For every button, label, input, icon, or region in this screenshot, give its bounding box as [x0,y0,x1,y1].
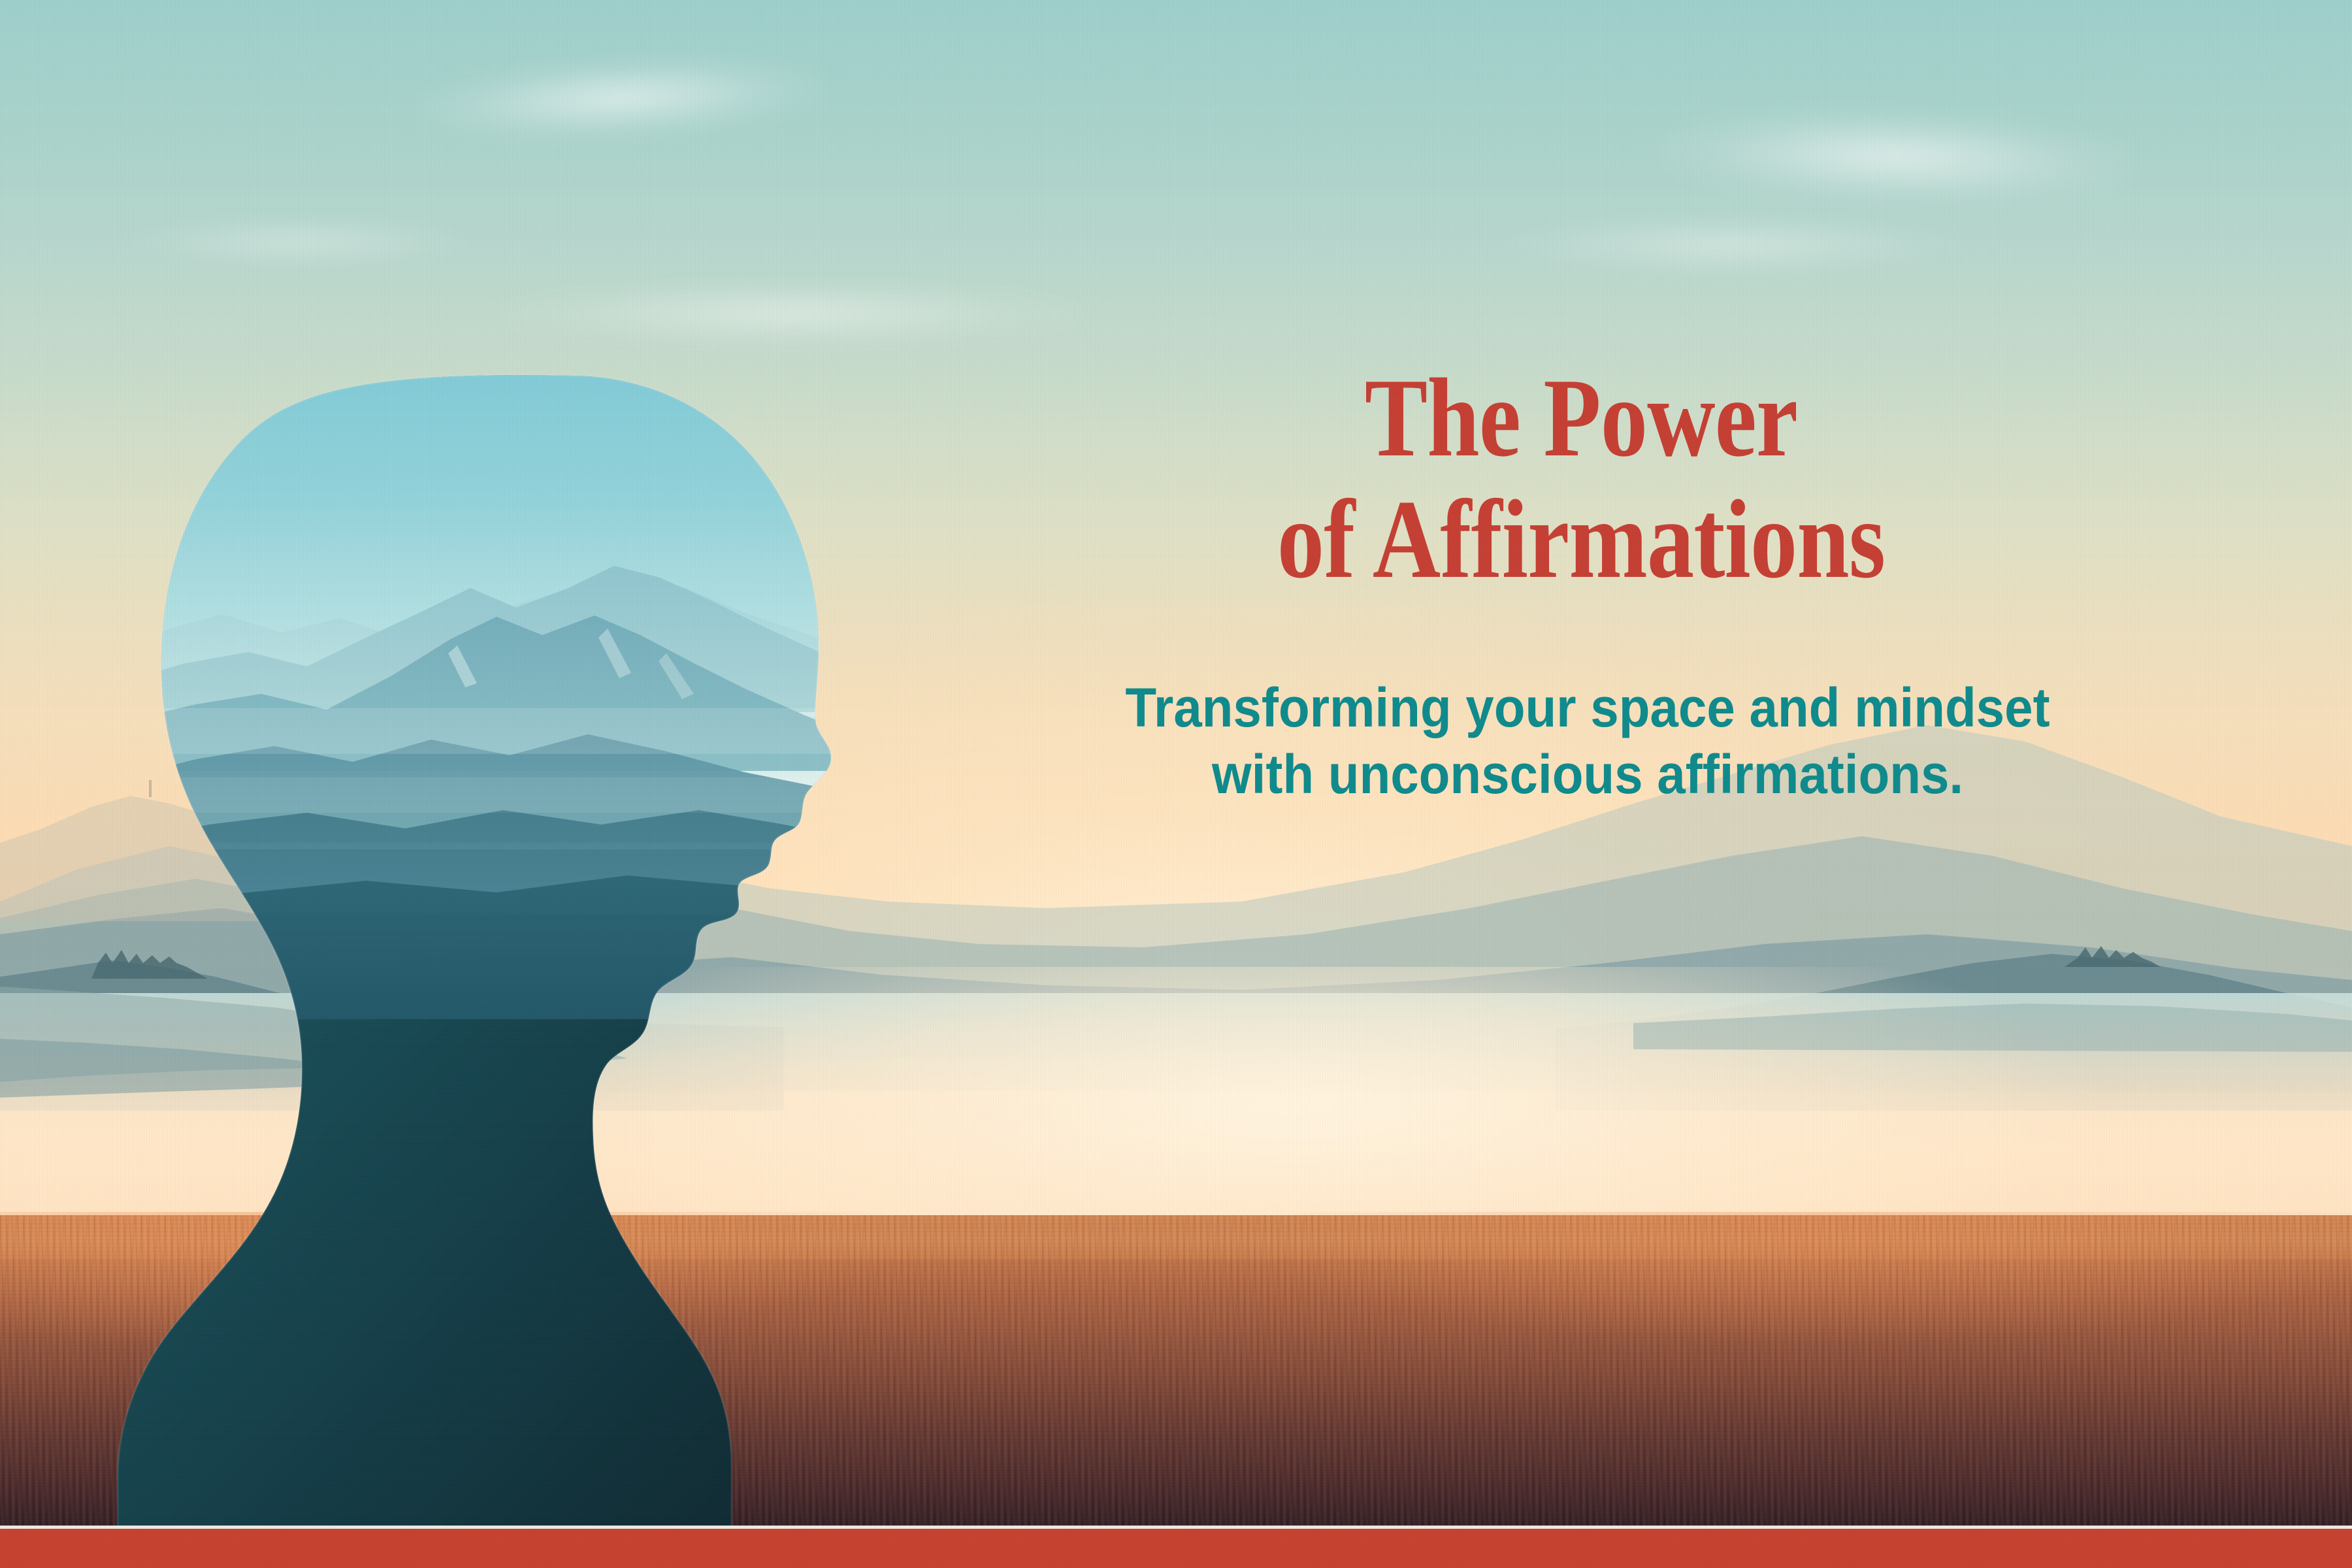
page-title: The Power of Affirmations [1109,358,2053,601]
poster-canvas: The Power of Affirmations Transforming y… [0,0,2352,1568]
head-inner-landscape [118,353,843,1019]
page-subtitle: Transforming your space and mindset with… [962,674,2213,808]
bottom-accent-bar [0,1529,2352,1568]
